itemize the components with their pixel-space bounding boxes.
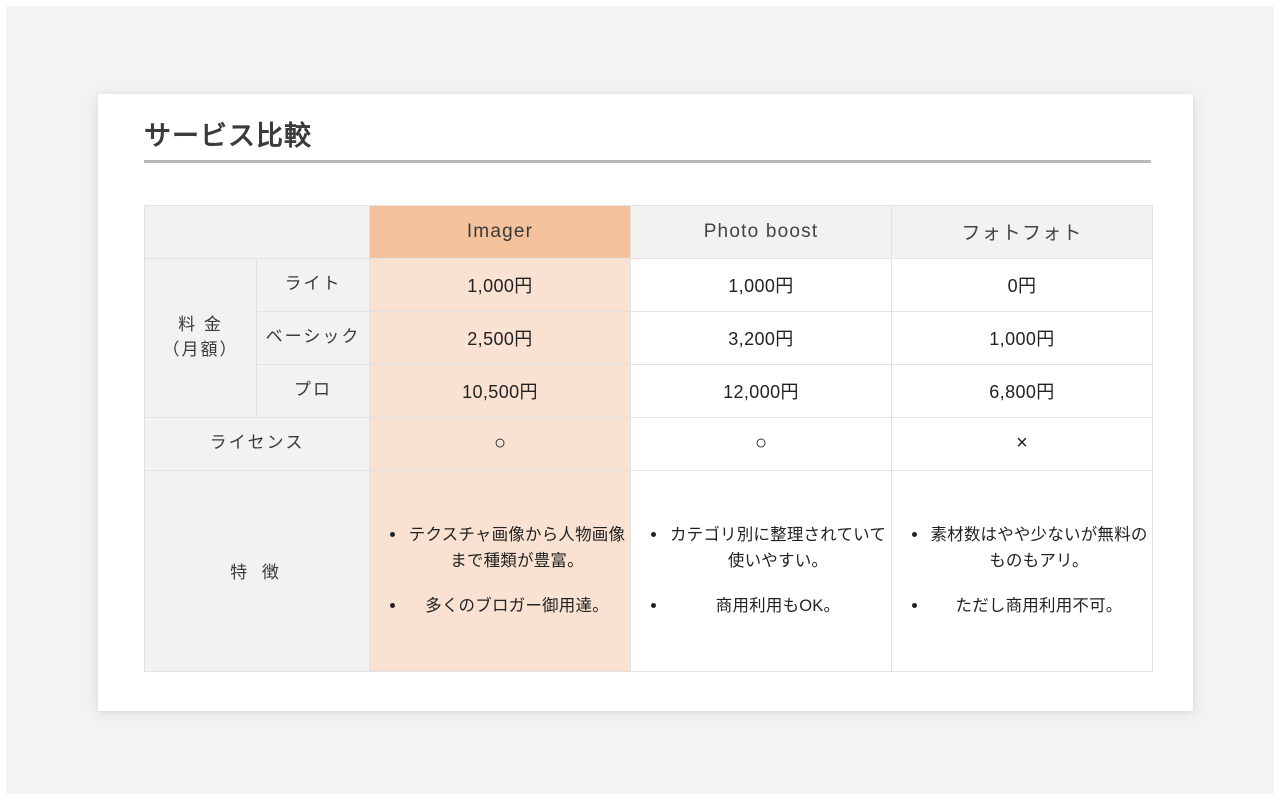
list-item: 素材数はやや少ないが無料のものもアリ。 <box>912 522 1152 575</box>
cell-price-basic-fotofoto: 1,000円 <box>892 311 1153 364</box>
cell-license-imager: ○ <box>370 417 631 470</box>
table-header: Imager Photo boost フォトフォト <box>145 205 1153 258</box>
feature-list-fotofoto: 素材数はやや少ないが無料のものもアリ。 ただし商用利用不可。 <box>892 522 1152 620</box>
card-content: サービス比較 Imager Photo boost フォトフォト <box>144 120 1151 711</box>
title-underline-rule <box>144 160 1151 163</box>
list-item: カテゴリ別に整理されていて使いやすい。 <box>651 522 891 575</box>
cell-features-imager: テクスチャ画像から人物画像まで種類が豊富。 多くのブロガー御用達。 <box>370 470 631 671</box>
cell-price-basic-imager: 2,500円 <box>370 311 631 364</box>
row-label-features: 特 徴 <box>145 470 370 671</box>
cell-price-pro-photo-boost: 12,000円 <box>631 364 892 417</box>
comparison-card: サービス比較 Imager Photo boost フォトフォト <box>98 94 1193 711</box>
feature-list-imager: テクスチャ画像から人物画像まで種類が豊富。 多くのブロガー御用達。 <box>370 522 630 620</box>
header-corner-cell <box>145 205 370 258</box>
cell-price-pro-fotofoto: 6,800円 <box>892 364 1153 417</box>
cell-license-fotofoto: × <box>892 417 1153 470</box>
list-item: 多くのブロガー御用達。 <box>390 593 630 620</box>
page-title: サービス比較 <box>144 120 1151 160</box>
service-comparison-table: Imager Photo boost フォトフォト 料 金 （月額） ライト 1… <box>144 205 1153 672</box>
price-label-line2: （月額） <box>145 338 256 363</box>
row-sublabel-pro: プロ <box>257 364 370 417</box>
cell-price-light-fotofoto: 0円 <box>892 258 1153 311</box>
feature-list-photo-boost: カテゴリ別に整理されていて使いやすい。 商用利用もOK。 <box>631 522 891 620</box>
table-row-features: 特 徴 テクスチャ画像から人物画像まで種類が豊富。 多くのブロガー御用達。 カテ… <box>145 470 1153 671</box>
table-row-license: ライセンス ○ ○ × <box>145 417 1153 470</box>
page-background: サービス比較 Imager Photo boost フォトフォト <box>0 0 1280 800</box>
cell-price-basic-photo-boost: 3,200円 <box>631 311 892 364</box>
cell-price-light-imager: 1,000円 <box>370 258 631 311</box>
table-row-price-light: 料 金 （月額） ライト 1,000円 1,000円 0円 <box>145 258 1153 311</box>
cell-license-photo-boost: ○ <box>631 417 892 470</box>
row-sublabel-basic: ベーシック <box>257 311 370 364</box>
table-row-price-basic: ベーシック 2,500円 3,200円 1,000円 <box>145 311 1153 364</box>
list-item: 商用利用もOK。 <box>651 593 891 620</box>
table-body: 料 金 （月額） ライト 1,000円 1,000円 0円 ベーシック 2,50… <box>145 258 1153 671</box>
cell-features-fotofoto: 素材数はやや少ないが無料のものもアリ。 ただし商用利用不可。 <box>892 470 1153 671</box>
header-service-imager: Imager <box>370 205 631 258</box>
row-sublabel-light: ライト <box>257 258 370 311</box>
cell-price-pro-imager: 10,500円 <box>370 364 631 417</box>
list-item: ただし商用利用不可。 <box>912 593 1152 620</box>
header-service-photo-boost: Photo boost <box>631 205 892 258</box>
header-service-fotofoto: フォトフォト <box>892 205 1153 258</box>
cell-features-photo-boost: カテゴリ別に整理されていて使いやすい。 商用利用もOK。 <box>631 470 892 671</box>
table-header-row: Imager Photo boost フォトフォト <box>145 205 1153 258</box>
list-item: テクスチャ画像から人物画像まで種類が豊富。 <box>390 522 630 575</box>
row-label-license: ライセンス <box>145 417 370 470</box>
cell-price-light-photo-boost: 1,000円 <box>631 258 892 311</box>
price-label-line1: 料 金 <box>145 313 256 338</box>
table-row-price-pro: プロ 10,500円 12,000円 6,800円 <box>145 364 1153 417</box>
row-label-price-monthly: 料 金 （月額） <box>145 258 257 417</box>
